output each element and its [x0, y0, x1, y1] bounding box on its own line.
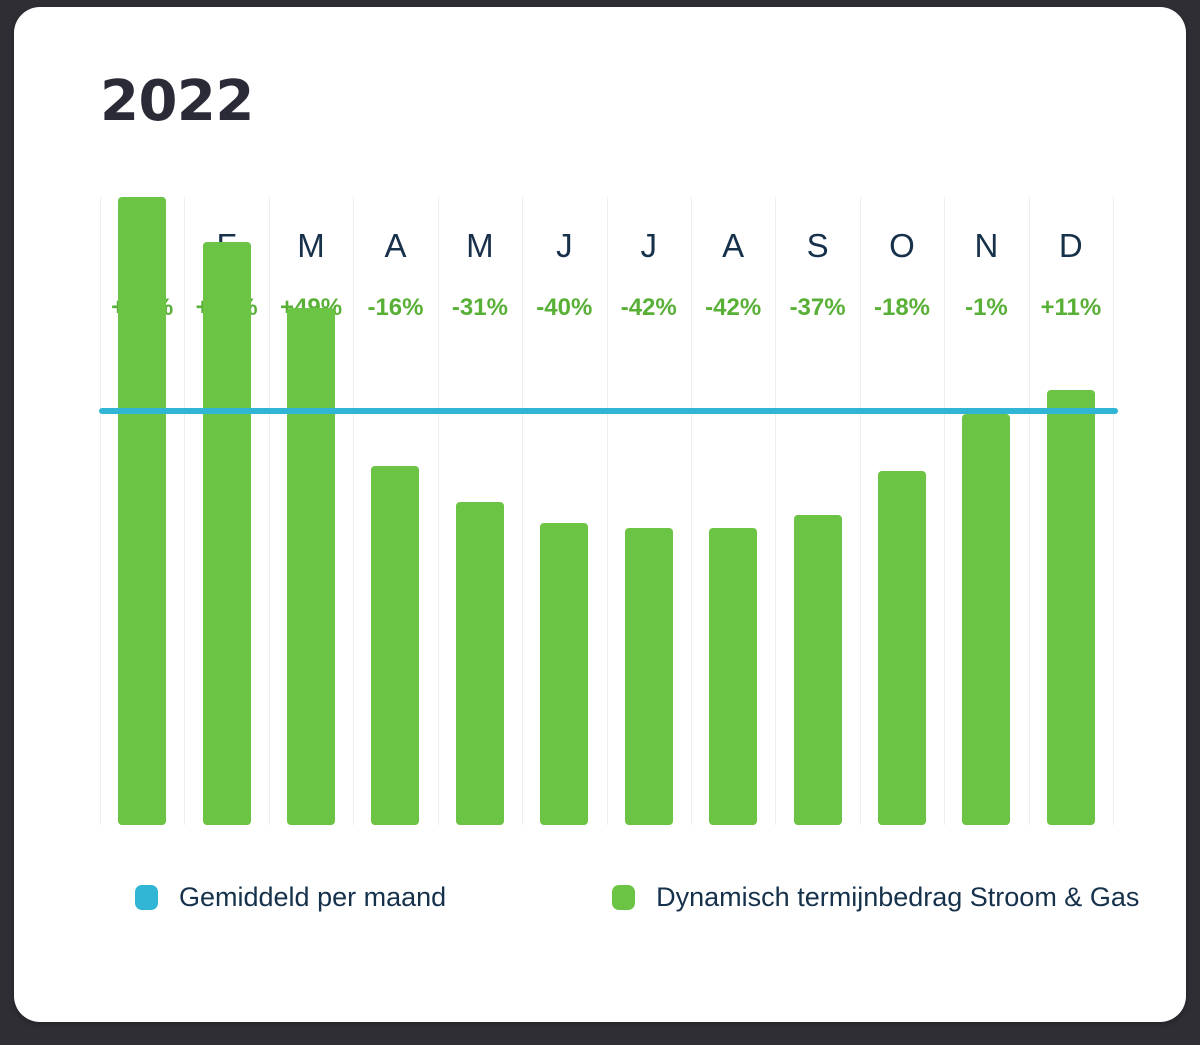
legend-label-average: Gemiddeld per maand — [179, 882, 446, 913]
legend-swatch-average-icon — [135, 885, 158, 910]
legend-item-average[interactable]: Gemiddeld per maand — [135, 882, 446, 913]
bar[interactable] — [794, 515, 842, 825]
average-reference-line — [99, 408, 1118, 414]
month-label: J — [522, 227, 606, 265]
percentage-label: -40% — [522, 294, 606, 322]
percentage-label: -42% — [691, 294, 775, 322]
month-label: A — [353, 227, 437, 265]
month-label: M — [269, 227, 353, 265]
bar[interactable] — [625, 528, 673, 825]
page-title: 2022 — [100, 69, 254, 134]
chart-column[interactable]: F+75% — [184, 197, 268, 825]
legend-swatch-dynamic-icon — [612, 885, 635, 910]
month-label: A — [691, 227, 775, 265]
percentage-label: -18% — [860, 294, 944, 322]
month-label: J — [607, 227, 691, 265]
month-label: N — [944, 227, 1028, 265]
chart-plot-area: J+92%F+75%M+49%A-16%M-31%J-40%J-42%A-42%… — [100, 197, 1113, 825]
chart-legend: Gemiddeld per maand Dynamisch termijnbed… — [135, 882, 1139, 913]
percentage-label: +11% — [1029, 294, 1113, 322]
gridline — [1113, 197, 1114, 825]
percentage-label: -37% — [775, 294, 859, 322]
bar[interactable] — [709, 528, 757, 825]
chart-column[interactable]: D+11% — [1029, 197, 1113, 825]
chart-column[interactable]: M+49% — [269, 197, 353, 825]
chart-column[interactable]: A-16% — [353, 197, 437, 825]
chart-column[interactable]: J+92% — [100, 197, 184, 825]
bar[interactable] — [118, 197, 166, 825]
legend-item-dynamic[interactable]: Dynamisch termijnbedrag Stroom & Gas — [612, 882, 1139, 913]
month-label: M — [438, 227, 522, 265]
bar[interactable] — [1047, 390, 1095, 825]
percentage-label: -42% — [607, 294, 691, 322]
month-label: D — [1029, 227, 1113, 265]
month-label: S — [775, 227, 859, 265]
percentage-label: -1% — [944, 294, 1028, 322]
bar[interactable] — [287, 308, 335, 825]
chart-column[interactable]: J-40% — [522, 197, 606, 825]
chart-column[interactable]: J-42% — [607, 197, 691, 825]
bar[interactable] — [203, 242, 251, 825]
bar[interactable] — [962, 414, 1010, 825]
month-label: O — [860, 227, 944, 265]
chart-column[interactable]: S-37% — [775, 197, 859, 825]
bar[interactable] — [878, 471, 926, 825]
chart-column[interactable]: A-42% — [691, 197, 775, 825]
bar[interactable] — [540, 523, 588, 825]
percentage-label: -16% — [353, 294, 437, 322]
chart-columns: J+92%F+75%M+49%A-16%M-31%J-40%J-42%A-42%… — [100, 197, 1113, 825]
bar[interactable] — [371, 466, 419, 825]
chart-column[interactable]: N-1% — [944, 197, 1028, 825]
percentage-label: -31% — [438, 294, 522, 322]
chart-column[interactable]: M-31% — [438, 197, 522, 825]
chart-card: 2022 J+92%F+75%M+49%A-16%M-31%J-40%J-42%… — [14, 7, 1186, 1022]
chart-column[interactable]: O-18% — [860, 197, 944, 825]
legend-label-dynamic: Dynamisch termijnbedrag Stroom & Gas — [656, 882, 1139, 913]
bar[interactable] — [456, 502, 504, 825]
